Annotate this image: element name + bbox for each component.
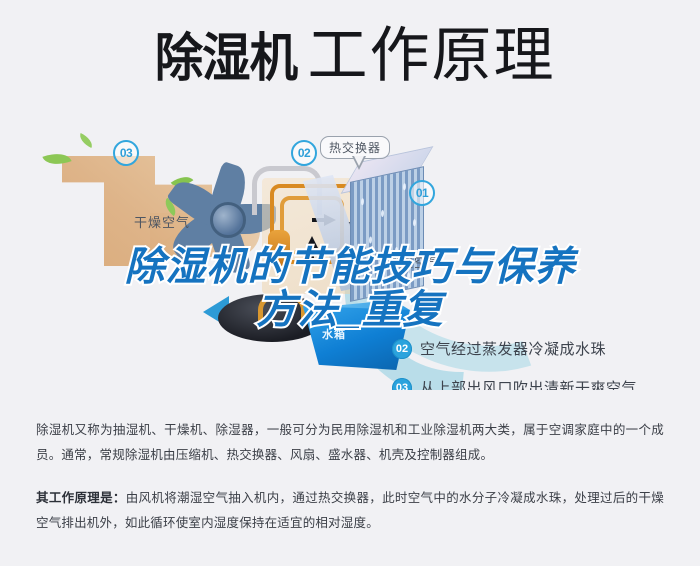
- step-badge: 03: [392, 378, 412, 391]
- banner-title-main: 工作原理: [308, 26, 556, 86]
- diagram-step-list: 02 空气经过蒸发器冷凝成水珠 03 从上部出风口吹出清新干爽空气: [392, 338, 637, 390]
- body-paragraph-1: 除湿机又称为抽湿机、干燥机、除湿器，一般可分为民用除湿机和工业除湿机两大类，属于…: [36, 418, 664, 468]
- article-page: 除湿机工作原理: [0, 0, 700, 566]
- flow-arrow-up: [306, 236, 318, 248]
- banner-title: 除湿机工作原理: [0, 0, 700, 118]
- leaf-icon: [77, 133, 95, 148]
- badge-step-01: 01: [409, 180, 435, 206]
- body-paragraph-2-rest: 由风机将潮湿空气抽入机内，通过热交换器，此时空气中的水分子冷凝成水珠，处理过后的…: [36, 491, 664, 530]
- compressor-cylinder: [268, 230, 290, 266]
- step-text: 空气经过蒸发器冷凝成水珠: [420, 338, 606, 359]
- dehumidifier-diagram: 水箱 03 02 01 干燥空气 潮湿空气 热交换器 02 空气经过蒸发器冷凝成…: [0, 118, 700, 390]
- label-dry-air: 干燥空气: [134, 212, 190, 231]
- water-tank-label: 水箱: [322, 326, 346, 342]
- fan-hub: [210, 202, 246, 238]
- diagram-step: 03 从上部出风口吹出清新干爽空气: [392, 377, 637, 390]
- article-body: 除湿机又称为抽湿机、干燥机、除湿器，一般可分为民用除湿机和工业除湿机两大类，属于…: [0, 418, 700, 554]
- label-humid-air: 潮湿空气: [386, 252, 442, 271]
- badge-step-02: 02: [291, 140, 317, 166]
- machine-internals: [262, 152, 442, 312]
- step-text: 从上部出风口吹出清新干爽空气: [420, 377, 637, 390]
- step-badge: 02: [392, 339, 412, 359]
- banner-title-lead: 除湿机: [155, 33, 297, 85]
- badge-step-03: 03: [113, 140, 139, 166]
- callout-pointer-icon: [352, 156, 366, 170]
- body-paragraph-2: 其工作原理是：由风机将潮湿空气抽入机内，通过热交换器，此时空气中的水分子冷凝成水…: [36, 486, 664, 536]
- compressor-pipe: [258, 294, 306, 325]
- diagram-step: 02 空气经过蒸发器冷凝成水珠: [392, 338, 637, 359]
- body-paragraph-2-lead: 其工作原理是：: [36, 491, 126, 505]
